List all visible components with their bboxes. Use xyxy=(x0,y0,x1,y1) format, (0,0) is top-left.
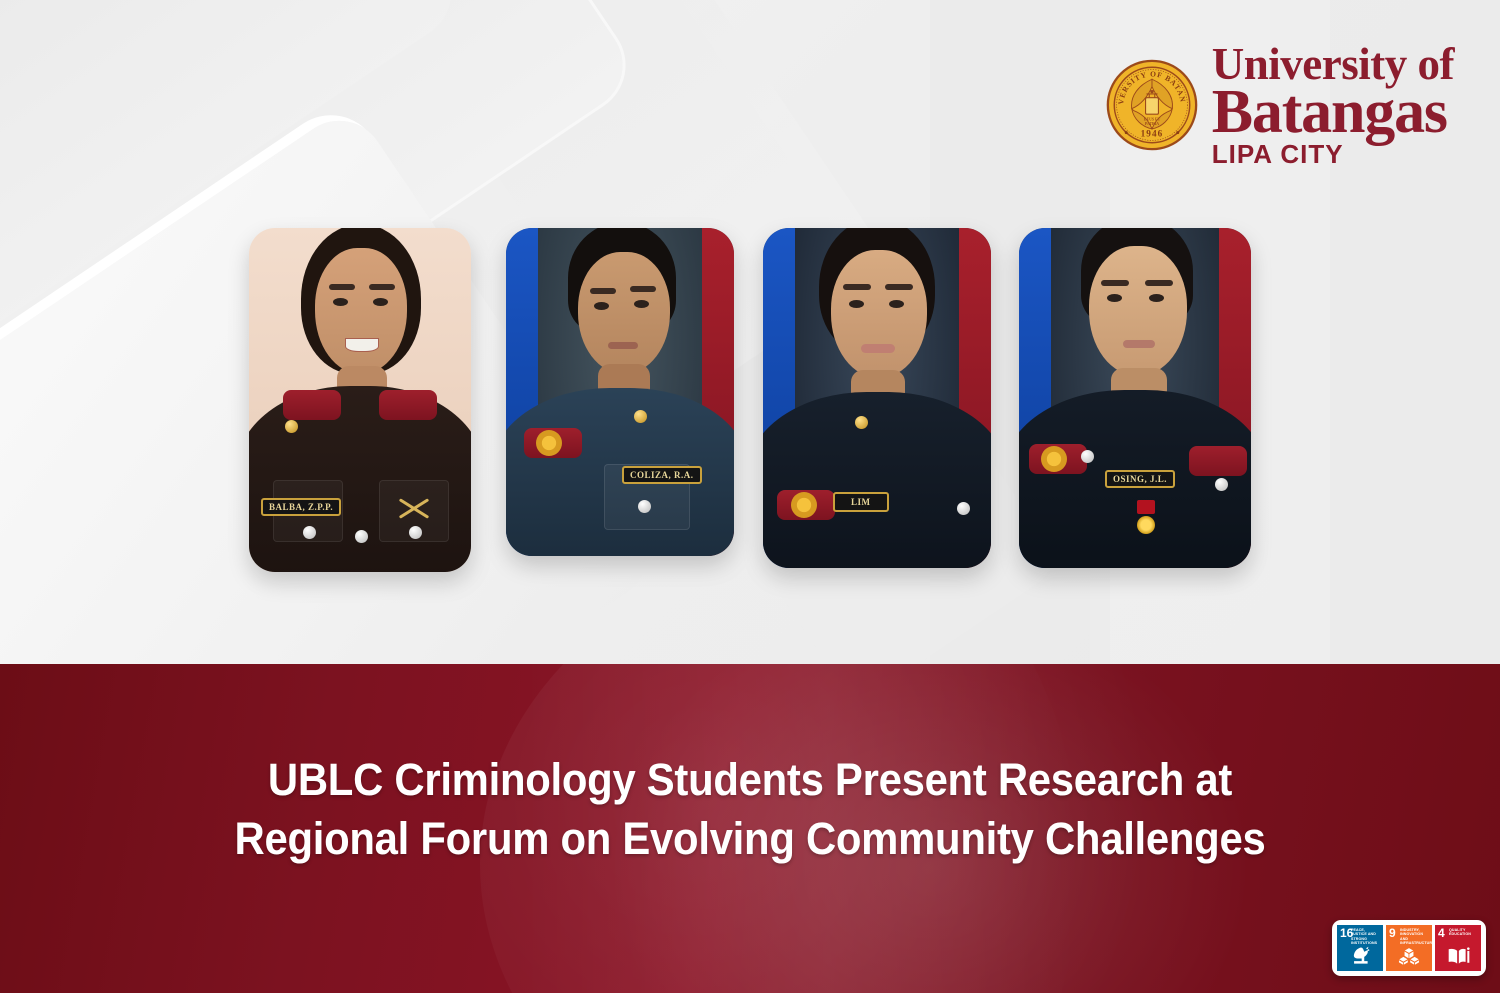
portrait-card-4: OSING, J.L. xyxy=(1019,228,1251,568)
sdg-tile-4[interactable]: 4 QUALITY EDUCATION xyxy=(1435,925,1481,971)
mouth-2 xyxy=(608,342,638,349)
sdg-number-9: 9 xyxy=(1389,927,1396,939)
collar-button-3 xyxy=(855,416,868,429)
eye-left-4 xyxy=(1107,294,1122,302)
brow-left-4 xyxy=(1101,280,1129,286)
uniform-3 xyxy=(763,392,991,568)
mouth-4 xyxy=(1123,340,1155,348)
epaulet-left-1 xyxy=(283,390,341,420)
sdg-tile-9[interactable]: 9 INDUSTRY, INNOVATION AND INFRASTRUCTUR… xyxy=(1386,925,1432,971)
eye-left-3 xyxy=(849,300,864,308)
sunburst-insignia-3 xyxy=(791,492,817,518)
shoulder-button-4 xyxy=(1081,450,1094,463)
mouth-3 xyxy=(861,344,895,353)
brow-left-1 xyxy=(329,284,355,290)
portrait-figure-1: BALBA, Z.P.P. xyxy=(249,228,471,572)
eye-left-1 xyxy=(333,298,348,306)
pocket-button-right-1 xyxy=(409,526,422,539)
brow-right-1 xyxy=(369,284,395,290)
face-3 xyxy=(831,250,927,378)
collar-button-1 xyxy=(285,420,298,433)
dove-gavel-icon xyxy=(1337,943,1383,969)
portrait-figure-4: OSING, J.L. xyxy=(1019,228,1251,568)
brow-right-4 xyxy=(1145,280,1173,286)
sdg-number-4: 4 xyxy=(1438,927,1445,939)
sdg-badge-group[interactable]: 16 PEACE, JUSTICE AND STRONG INSTITUTION… xyxy=(1332,920,1486,976)
poster-canvas: UNIVERSITY OF BATANGAS 1946 DEUS ET PATR… xyxy=(0,0,1500,993)
sdg-tile-16[interactable]: 16 PEACE, JUSTICE AND STRONG INSTITUTION… xyxy=(1337,925,1383,971)
face-2 xyxy=(578,252,670,374)
headline-line-2: Regional Forum on Evolving Community Cha… xyxy=(53,809,1448,868)
epaulet-right-1 xyxy=(379,390,437,420)
eye-right-3 xyxy=(889,300,904,308)
crossed-rifles-insignia-1 xyxy=(397,496,431,522)
portrait-card-1: BALBA, Z.P.P. xyxy=(249,228,471,572)
pocket-button-4 xyxy=(1215,478,1228,491)
portrait-gallery: BALBA, Z.P.P. xyxy=(0,0,1500,664)
epaulet-right-4 xyxy=(1189,446,1247,476)
eye-right-1 xyxy=(373,298,388,306)
open-book-icon xyxy=(1435,943,1481,969)
sdg-label-4: QUALITY EDUCATION xyxy=(1449,928,1479,937)
pocket-button-3 xyxy=(957,502,970,515)
face-4 xyxy=(1089,246,1187,376)
portrait-card-3: LIM xyxy=(763,228,991,568)
pocket-button-2 xyxy=(638,500,651,513)
pocket-button-left-1 xyxy=(303,526,316,539)
center-button-1 xyxy=(355,530,368,543)
title-banner: UBLC Criminology Students Present Resear… xyxy=(0,664,1500,993)
medal-4 xyxy=(1137,500,1155,542)
brow-right-3 xyxy=(885,284,913,290)
headline-line-1: UBLC Criminology Students Present Resear… xyxy=(53,750,1448,809)
eye-right-4 xyxy=(1149,294,1164,302)
name-tag-1: BALBA, Z.P.P. xyxy=(261,498,341,516)
mouth-1 xyxy=(345,338,379,352)
medal-ribbon-4 xyxy=(1137,500,1155,514)
name-tag-4: OSING, J.L. xyxy=(1105,470,1175,488)
sunburst-insignia-2 xyxy=(536,430,562,456)
name-tag-2: COLIZA, R.A. xyxy=(622,466,702,484)
brow-left-2 xyxy=(590,288,616,294)
portrait-figure-2: COLIZA, R.A. xyxy=(506,228,734,556)
cubes-icon xyxy=(1386,943,1432,969)
sunburst-insignia-4 xyxy=(1041,446,1067,472)
name-tag-3: LIM xyxy=(833,492,889,512)
brow-left-3 xyxy=(843,284,871,290)
poster-headline: UBLC Criminology Students Present Resear… xyxy=(53,750,1448,869)
eye-left-2 xyxy=(594,302,609,310)
medal-star-4 xyxy=(1137,516,1155,534)
brow-right-2 xyxy=(630,286,656,292)
portrait-card-2: COLIZA, R.A. xyxy=(506,228,734,556)
portrait-figure-3: LIM xyxy=(763,228,991,568)
eye-right-2 xyxy=(634,300,649,308)
collar-button-2 xyxy=(634,410,647,423)
face-1 xyxy=(315,248,407,374)
